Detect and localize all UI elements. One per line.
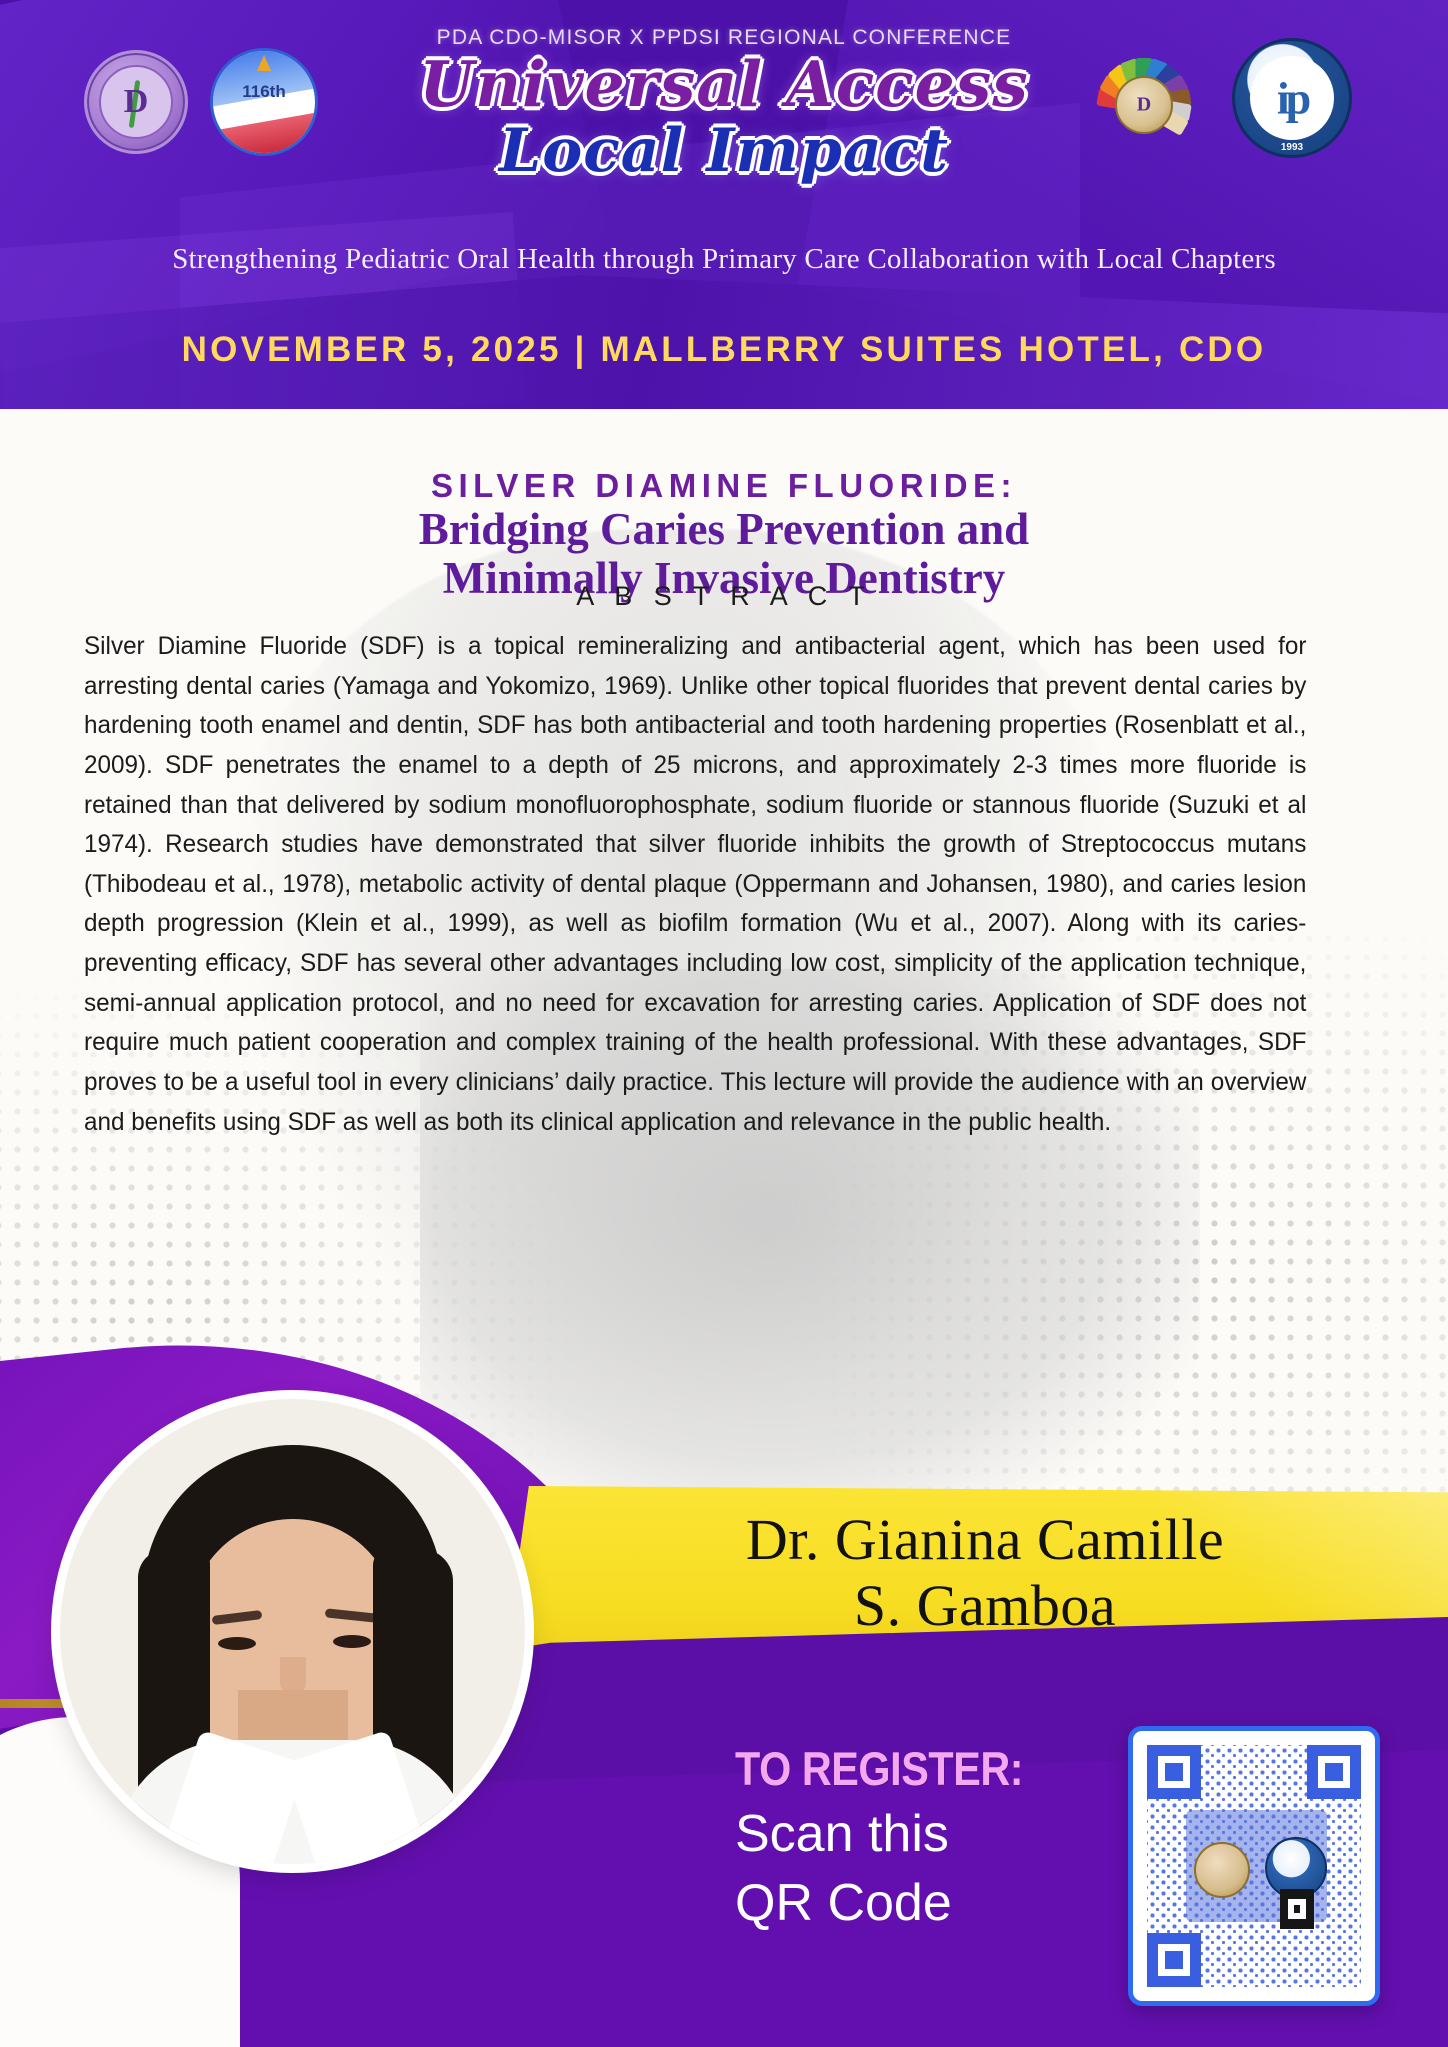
speaker-photo xyxy=(60,1399,525,1864)
qr-alignment-marker xyxy=(1280,1889,1314,1929)
speaker-name-line1: Dr. Gianina Camille xyxy=(520,1507,1448,1573)
qr-embedded-chapter-logo-icon xyxy=(1194,1842,1250,1898)
date-venue-bar: NOVEMBER 5, 2025 | MALLBERRY SUITES HOTE… xyxy=(0,330,1448,370)
register-heading: TO REGISTER: xyxy=(735,1741,1025,1796)
ppdsi-logo-icon: ip 1993 xyxy=(1232,38,1352,158)
lecture-title-line1: Bridging Caries Prevention and xyxy=(0,505,1448,554)
abstract-label: A B S T R A C T xyxy=(0,581,1448,612)
register-line-1: Scan this xyxy=(735,1804,1065,1865)
conference-tagline: Strengthening Pediatric Oral Health thro… xyxy=(0,243,1448,276)
event-title-line2: Local Impact xyxy=(0,120,1448,184)
ppdsi-logo-year: 1993 xyxy=(1281,142,1303,153)
portrait-eye-left xyxy=(218,1637,256,1650)
abstract-body-text: Silver Diamine Fluoride (SDF) is a topic… xyxy=(84,627,1306,1142)
conference-poster: PDA CDO-MISOR X PPDSI REGIONAL CONFERENC… xyxy=(0,0,1448,2047)
portrait-eye-right xyxy=(333,1635,371,1648)
qr-finder-top-right xyxy=(1307,1745,1361,1799)
poster-header: PDA CDO-MISOR X PPDSI REGIONAL CONFERENC… xyxy=(0,0,1448,409)
qr-finder-top-left xyxy=(1147,1745,1201,1799)
event-title-line1: Universal Access xyxy=(0,52,1448,118)
lecture-title-kicker: SILVER DIAMINE FLUORIDE: xyxy=(0,467,1448,505)
speaker-name: Dr. Gianina Camille S. Gamboa xyxy=(520,1507,1448,1639)
chapter-logo-mark: D xyxy=(1137,94,1151,117)
qr-canvas xyxy=(1147,1745,1361,1987)
poster-lower-section: Dr. Gianina Camille S. Gamboa xyxy=(0,1311,1448,2047)
speaker-photo-inner xyxy=(60,1399,525,1864)
registration-qr-code[interactable] xyxy=(1128,1726,1380,2006)
pda-cdo-misor-chapter-logo-icon: D xyxy=(1090,52,1198,158)
lecture-title-block: SILVER DIAMINE FLUORIDE: Bridging Caries… xyxy=(0,409,1448,602)
qr-finder-bottom-left xyxy=(1147,1933,1201,1987)
register-line-2: QR Code xyxy=(735,1873,1065,1934)
chapter-logo-core: D xyxy=(1115,76,1173,134)
speaker-name-line2: S. Gamboa xyxy=(520,1573,1448,1639)
event-title-block: Universal Access Local Impact xyxy=(0,52,1448,183)
ppdsi-logo-mark: ip xyxy=(1277,72,1307,125)
register-block: TO REGISTER: Scan this QR Code xyxy=(735,1741,1065,1935)
